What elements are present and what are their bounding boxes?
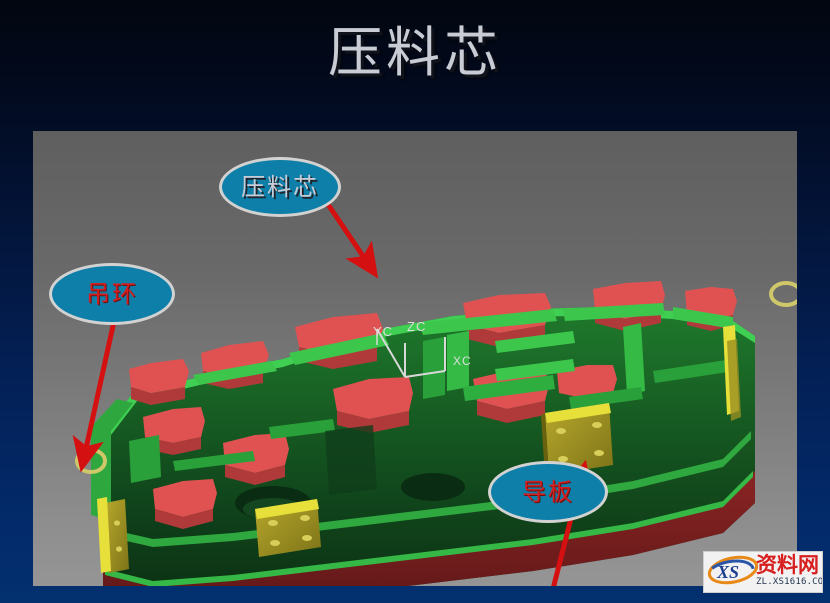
- callout-daoban[interactable]: 导板: [488, 461, 608, 523]
- cad-model-drawing: YC ZC XC: [33, 131, 797, 586]
- watermark-site-name: 资料网: [756, 553, 819, 577]
- watermark-url: ZL.XS1616.COM: [756, 577, 823, 588]
- svg-text:YC: YC: [373, 324, 393, 339]
- guide-plate-far-left: [97, 497, 129, 573]
- svg-text:XS: XS: [716, 562, 739, 582]
- leader-arrow-yaliaoxin: [323, 197, 367, 262]
- presentation-slide: 压料芯: [0, 0, 830, 603]
- page-title: 压料芯: [0, 18, 830, 88]
- svg-text:XC: XC: [453, 354, 472, 368]
- guide-plate-left-center: [255, 499, 321, 557]
- lifting-ring-right: [771, 283, 797, 305]
- svg-text:ZC: ZC: [407, 319, 426, 334]
- callout-yaliaoxin-label: 压料芯: [241, 174, 319, 200]
- callout-diaohuan[interactable]: 吊环: [49, 263, 175, 325]
- xs-logo-icon: XS: [707, 555, 759, 585]
- callout-yaliaoxin[interactable]: 压料芯: [219, 157, 341, 217]
- callout-diaohuan-label: 吊环: [86, 281, 138, 307]
- callout-daoban-label: 导板: [522, 479, 574, 505]
- watermark: XS 资料网 ZL.XS1616.COM: [703, 551, 823, 593]
- cad-model-image: YC ZC XC: [33, 131, 797, 586]
